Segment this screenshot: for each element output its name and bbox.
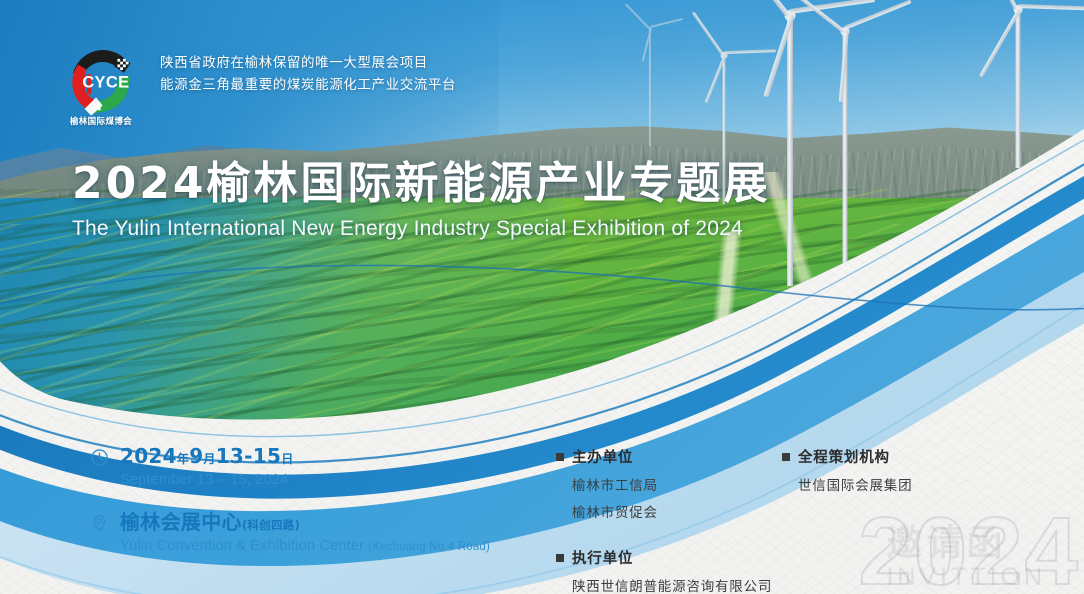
date-month-unit: 月 xyxy=(203,452,215,466)
organizer-column-left: 主办单位 榆林市工信局 榆林市贸促会 执行单位 陕西世信朗普能源咨询有限公司 xyxy=(556,446,772,594)
exhibition-title-en: The Yulin International New Energy Indus… xyxy=(72,217,770,241)
organizer-item: 榆林市贸促会 xyxy=(572,501,772,521)
svg-text:CYCE: CYCE xyxy=(82,74,129,92)
cyce-logo-mark: CYCE xyxy=(60,40,142,122)
poster-canvas: CYCE 榆林国际煤博会 陕西省政府在榆林保留的唯一大型展会项目 能源金三角最重… xyxy=(0,0,1084,594)
bullet-square-icon xyxy=(556,453,564,461)
tagline-line-1: 陕西省政府在榆林保留的唯一大型展会项目 xyxy=(160,52,456,74)
organizer-item: 榆林市工信局 xyxy=(572,474,772,494)
terrace-lines-secondary xyxy=(0,224,1084,439)
organizer-heading: 主办单位 xyxy=(556,446,772,467)
event-date-cn: 2024年9月13-15日 xyxy=(120,444,294,469)
header: CYCE 榆林国际煤博会 陕西省政府在榆林保留的唯一大型展会项目 能源金三角最重… xyxy=(60,40,456,122)
exhibition-title-cn: 2024榆林国际新能源产业专题展 xyxy=(72,160,770,208)
cyce-logo[interactable]: CYCE 榆林国际煤博会 xyxy=(60,40,142,122)
watermark-inner: 邀请函 INVITTION xyxy=(886,526,1046,590)
organizer-title: 执行单位 xyxy=(572,547,633,568)
organizer-item: 世信国际会展集团 xyxy=(798,474,912,494)
date-days: 13-15 xyxy=(216,444,281,468)
date-month: 9 xyxy=(189,444,203,468)
wind-turbine-2 xyxy=(805,30,885,280)
event-info: 2024年9月13-15日 September 13 – 15, 2024 榆林… xyxy=(90,444,490,576)
map-pin-icon xyxy=(90,514,109,533)
event-date-en: September 13 – 15, 2024 xyxy=(120,472,294,488)
bullet-square-icon xyxy=(782,453,790,461)
tagline-line-2: 能源金三角最重要的煤炭能源化工产业交流平台 xyxy=(160,74,456,96)
title-block: 2024榆林国际新能源产业专题展 The Yulin International… xyxy=(72,160,770,241)
venue-name-cn-main: 榆林会展中心 xyxy=(120,510,242,534)
venue-name-cn-sub: (科创四路) xyxy=(242,518,300,532)
organizer-group-planner: 全程策划机构 世信国际会展集团 xyxy=(782,446,912,494)
venue-name-en-sub: (Kechuang No.4 Road) xyxy=(368,541,490,553)
organizer-item: 陕西世信朗普能源咨询有限公司 xyxy=(572,575,772,594)
organizer-heading: 执行单位 xyxy=(556,547,772,568)
wind-turbine-3 xyxy=(975,8,1061,168)
event-venue-row: 榆林会展中心(科创四路) Yulin Convention & Exhibiti… xyxy=(90,510,490,554)
cyce-logo-caption: 榆林国际煤博会 xyxy=(70,115,132,127)
organizer-column-right: 全程策划机构 世信国际会展集团 xyxy=(782,446,912,520)
date-year-unit: 年 xyxy=(177,452,189,466)
date-year: 2024 xyxy=(120,444,177,468)
venue-name-en: Yulin Convention & Exhibition Center (Ke… xyxy=(120,538,490,554)
organizer-title: 全程策划机构 xyxy=(798,446,890,467)
organizer-group-host: 主办单位 榆林市工信局 榆林市贸促会 xyxy=(556,446,772,521)
date-day-unit: 日 xyxy=(281,452,293,466)
organizer-title: 主办单位 xyxy=(572,446,633,467)
header-taglines: 陕西省政府在榆林保留的唯一大型展会项目 能源金三角最重要的煤炭能源化工产业交流平… xyxy=(160,40,456,96)
organizer-group-executor: 执行单位 陕西世信朗普能源咨询有限公司 xyxy=(556,547,772,594)
venue-name-cn: 榆林会展中心(科创四路) xyxy=(120,510,490,535)
event-date-row: 2024年9月13-15日 September 13 – 15, 2024 xyxy=(90,444,490,488)
wind-turbine-5 xyxy=(630,28,670,146)
venue-name-en-main: Yulin Convention & Exhibition Center xyxy=(120,538,364,554)
bullet-square-icon xyxy=(556,554,564,562)
watermark-text-cn: 邀请函 xyxy=(886,526,1046,562)
watermark-text-en: INVITTION xyxy=(886,565,1046,590)
clock-icon xyxy=(90,448,109,467)
organizer-heading: 全程策划机构 xyxy=(782,446,912,467)
